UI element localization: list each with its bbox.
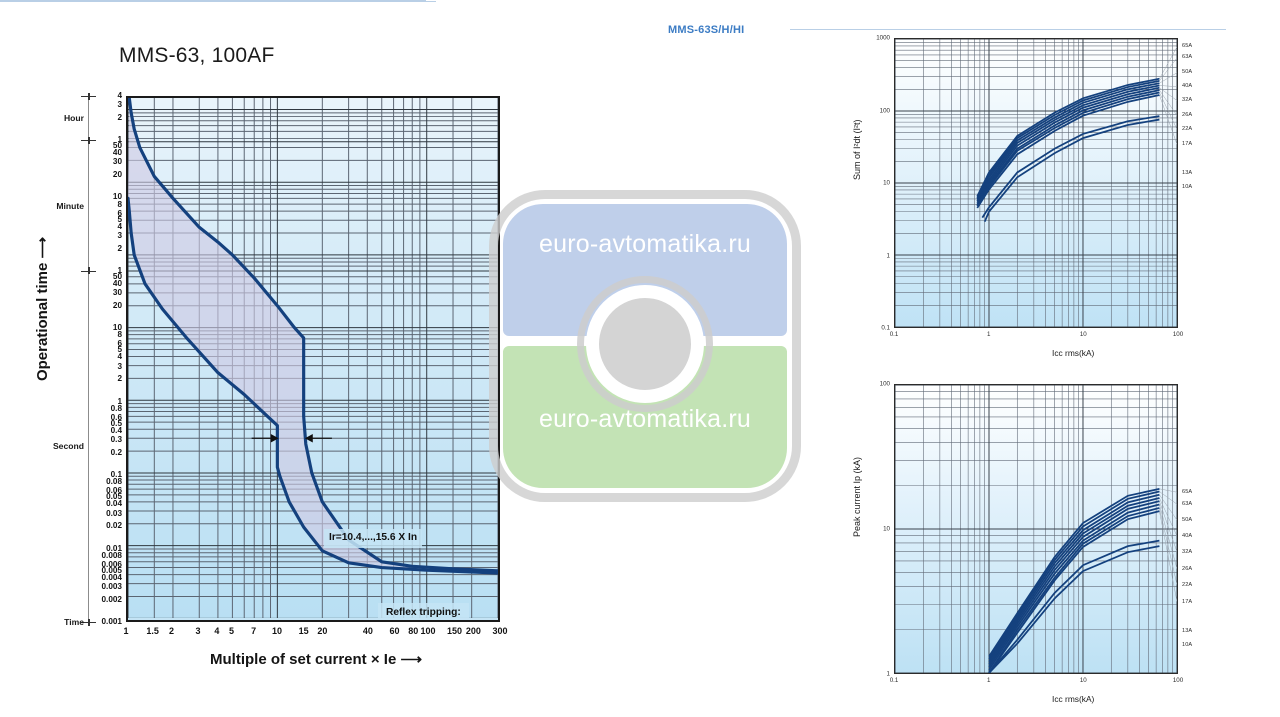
i2t-x-tick-label: 10 bbox=[1080, 331, 1087, 338]
main-y-tick-label: 4 bbox=[117, 223, 122, 231]
main-y-tick-label: 3 bbox=[117, 232, 122, 240]
peak-y-tick-label: 100 bbox=[880, 381, 890, 388]
i2t-rating-label: 17A bbox=[1182, 141, 1192, 147]
time-scale-label-hour: Hour bbox=[64, 113, 84, 123]
peak-rating-label: 22A bbox=[1182, 582, 1192, 588]
main-x-tick-label: 3 bbox=[195, 627, 200, 636]
main-y-tick-label: 2 bbox=[117, 245, 122, 253]
peak-rating-label: 40A bbox=[1182, 533, 1192, 539]
time-scale-label-minute: Minute bbox=[56, 201, 84, 211]
main-y-tick-label: 20 bbox=[113, 302, 122, 310]
main-x-tick-label: 4 bbox=[214, 627, 219, 636]
y-axis-arrow-icon: ⟶ bbox=[34, 237, 51, 259]
main-x-tick-label: 1 bbox=[123, 627, 128, 636]
i2t-y-tick-label: 100 bbox=[880, 107, 890, 114]
main-chart-title: MMS-63, 100AF bbox=[119, 44, 275, 68]
peak-rating-label: 63A bbox=[1182, 501, 1192, 507]
tripping-characteristic-chart: MMS-63, 100AF Operational time ⟶ Multipl… bbox=[0, 0, 540, 700]
i2t-x-tick-label: 0.1 bbox=[890, 331, 899, 338]
peak-x-tick-label: 10 bbox=[1080, 677, 1087, 684]
i2t-y-ticks-host: 10001001010.1 bbox=[854, 38, 890, 328]
main-y-tick-label: 0.4 bbox=[111, 427, 122, 435]
main-y-tick-label: 2 bbox=[117, 114, 122, 122]
watermark-ring-outer bbox=[577, 276, 713, 412]
peak-rating-label: 10A bbox=[1182, 642, 1192, 648]
main-y-tick-label: 30 bbox=[113, 158, 122, 166]
main-chart-x-tick-labels: 11.523457101520406080100150200300 bbox=[126, 626, 500, 642]
main-y-tick-label: 0.8 bbox=[111, 405, 122, 413]
i2t-plot-graphics bbox=[895, 39, 1177, 327]
watermark-ring-inner bbox=[586, 285, 704, 403]
x-axis-title-text: Multiple of set current × Ie bbox=[210, 651, 396, 668]
annotation-reflex-tripping: Reflex tripping: t≤5ms bbox=[378, 603, 469, 622]
main-x-tick-label: 60 bbox=[389, 627, 399, 636]
main-plot-graphics bbox=[128, 98, 498, 618]
peak-rating-label: 32A bbox=[1182, 549, 1192, 555]
main-y-tick-label: 2 bbox=[117, 375, 122, 383]
main-x-tick-label: 5 bbox=[229, 627, 234, 636]
main-x-tick-label: 80 bbox=[408, 627, 418, 636]
main-x-tick-label: 2 bbox=[169, 627, 174, 636]
peak-y-ticks-host: 100101 bbox=[854, 384, 890, 674]
annotation-reflex-line2: t≤5ms bbox=[386, 621, 461, 622]
main-chart-x-axis-title: Multiple of set current × Ie ⟶ bbox=[210, 650, 422, 668]
i2t-rating-label: 22A bbox=[1182, 126, 1192, 132]
peak-rating-label: 65A bbox=[1182, 489, 1192, 495]
main-y-tick-label: 0.08 bbox=[106, 478, 122, 486]
i2t-y-tick-label: 1 bbox=[887, 252, 890, 259]
main-y-tick-label: 20 bbox=[113, 171, 122, 179]
peak-plot-graphics bbox=[895, 385, 1177, 673]
peak-rating-label: 50A bbox=[1182, 517, 1192, 523]
annotation-reflex-line1: Reflex tripping: bbox=[386, 606, 461, 621]
peak-rating-label: 17A bbox=[1182, 599, 1192, 605]
main-y-tick-label: 0.002 bbox=[102, 596, 123, 604]
i2t-y-tick-label: 1000 bbox=[876, 35, 890, 42]
i2t-x-ticks-host: 0.1110100 bbox=[894, 331, 1178, 343]
main-y-tick-label: 30 bbox=[113, 289, 122, 297]
main-y-tick-label: 40 bbox=[113, 280, 122, 288]
main-x-tick-label: 150 bbox=[447, 627, 462, 636]
watermark-top-panel bbox=[503, 204, 787, 336]
i2t-x-tick-label: 100 bbox=[1173, 331, 1183, 338]
main-y-tick-label: 0.008 bbox=[102, 551, 123, 559]
i2t-rating-label: 50A bbox=[1182, 69, 1192, 75]
main-x-tick-label: 300 bbox=[492, 627, 507, 636]
main-y-tick-label: 3 bbox=[117, 362, 122, 370]
main-y-tick-label: 0.004 bbox=[102, 574, 123, 582]
i2t-rating-label: 63A bbox=[1182, 54, 1192, 60]
i2t-y-tick-label: 10 bbox=[883, 180, 890, 187]
peak-plot-area bbox=[894, 384, 1178, 674]
main-y-tick-label: 0.04 bbox=[106, 500, 122, 508]
main-x-tick-label: 100 bbox=[420, 627, 435, 636]
main-x-tick-label: 7 bbox=[251, 627, 256, 636]
peak-ratings-host: 65A63A50A40A32A26A22A17A13A10A bbox=[1182, 384, 1222, 674]
main-y-tick-label: 40 bbox=[113, 149, 122, 157]
i2t-rating-label: 13A bbox=[1182, 170, 1192, 176]
main-chart-y-tick-labels: 432150403020108654321504030201086543210.… bbox=[86, 96, 122, 622]
main-plot-area: Ir=10.4,...,15.6 X In Reflex tripping: t… bbox=[126, 96, 500, 622]
time-scale-label-second: Second bbox=[53, 441, 84, 451]
main-y-tick-label: 8 bbox=[117, 331, 122, 339]
time-scale-label-time: Time bbox=[64, 617, 84, 627]
peak-rating-label: 13A bbox=[1182, 628, 1192, 634]
page-header-label: MMS-63S/H/HI bbox=[668, 24, 744, 36]
main-y-tick-label: 4 bbox=[117, 353, 122, 361]
sum-of-i2t-chart: Sum of I²dt (I²t) Icc rms(kA) 1000100101… bbox=[840, 30, 1240, 360]
main-y-tick-label: 0.3 bbox=[111, 436, 122, 444]
main-y-tick-label: 0.2 bbox=[111, 449, 122, 457]
main-x-tick-label: 40 bbox=[363, 627, 373, 636]
i2t-ratings-host: 65A63A50A40A32A26A22A17A13A10A bbox=[1182, 38, 1222, 328]
main-y-tick-label: 0.003 bbox=[102, 583, 123, 591]
i2t-rating-label: 65A bbox=[1182, 43, 1192, 49]
i2t-rating-label: 32A bbox=[1182, 97, 1192, 103]
main-x-tick-label: 20 bbox=[317, 627, 327, 636]
annotation-ir-range: Ir=10.4,...,15.6 X In bbox=[324, 529, 422, 548]
peak-x-tick-label: 100 bbox=[1173, 677, 1183, 684]
main-x-tick-label: 200 bbox=[466, 627, 481, 636]
peak-rating-label: 26A bbox=[1182, 566, 1192, 572]
watermark-bottom-panel bbox=[503, 346, 787, 488]
main-x-tick-label: 10 bbox=[272, 627, 282, 636]
main-y-tick-label: 0.02 bbox=[106, 522, 122, 530]
x-axis-arrow-icon: ⟶ bbox=[400, 651, 422, 668]
main-x-tick-label: 1.5 bbox=[146, 627, 159, 636]
peak-x-axis-title: Icc rms(kA) bbox=[1052, 694, 1094, 704]
peak-x-ticks-host: 0.1110100 bbox=[894, 677, 1178, 689]
peak-x-tick-label: 1 bbox=[987, 677, 990, 684]
main-y-tick-label: 0.001 bbox=[102, 618, 123, 626]
i2t-rating-label: 26A bbox=[1182, 112, 1192, 118]
peak-current-chart: Peak current Ip (kA) Icc rms(kA) 1001010… bbox=[840, 372, 1240, 702]
main-y-tick-label: 4 bbox=[117, 92, 122, 100]
y-axis-title-text: Operational time bbox=[34, 263, 51, 381]
i2t-x-tick-label: 1 bbox=[987, 331, 990, 338]
i2t-plot-area bbox=[894, 38, 1178, 328]
main-y-tick-label: 8 bbox=[117, 200, 122, 208]
main-y-tick-label: 3 bbox=[117, 101, 122, 109]
i2t-rating-label: 40A bbox=[1182, 83, 1192, 89]
main-y-tick-label: 0.03 bbox=[106, 509, 122, 517]
i2t-rating-label: 10A bbox=[1182, 184, 1192, 190]
peak-y-tick-label: 10 bbox=[883, 526, 890, 533]
main-chart-y-axis-title: Operational time ⟶ bbox=[33, 209, 51, 409]
main-x-tick-label: 15 bbox=[299, 627, 309, 636]
i2t-x-axis-title: Icc rms(kA) bbox=[1052, 348, 1094, 358]
peak-x-tick-label: 0.1 bbox=[890, 677, 899, 684]
